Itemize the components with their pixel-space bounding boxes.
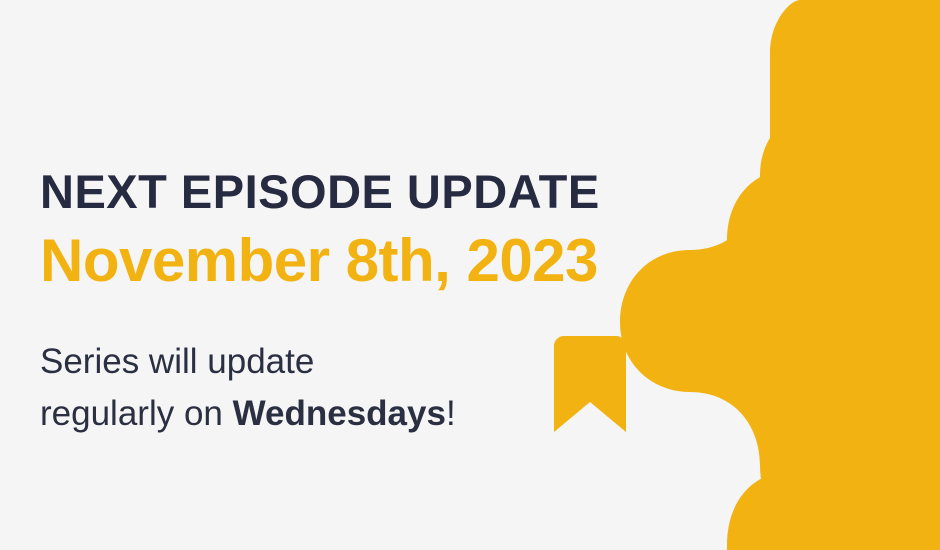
schedule-note-line-1: Series will update — [40, 336, 540, 388]
schedule-note-day: Wednesdays — [233, 394, 446, 433]
page-title: NEXT EPISODE UPDATE — [40, 168, 740, 215]
schedule-note-suffix: ! — [446, 394, 456, 433]
schedule-note: Series will update regularly on Wednesda… — [40, 336, 540, 440]
episode-date: November 8th, 2023 — [40, 231, 740, 291]
bookmark-icon — [554, 336, 626, 432]
next-episode-update-banner: NEXT EPISODE UPDATE November 8th, 2023 S… — [0, 0, 940, 550]
schedule-note-line-2: regularly on Wednesdays! — [40, 388, 540, 440]
banner-text-block: NEXT EPISODE UPDATE November 8th, 2023 — [40, 168, 740, 291]
schedule-note-prefix: regularly on — [40, 394, 233, 433]
